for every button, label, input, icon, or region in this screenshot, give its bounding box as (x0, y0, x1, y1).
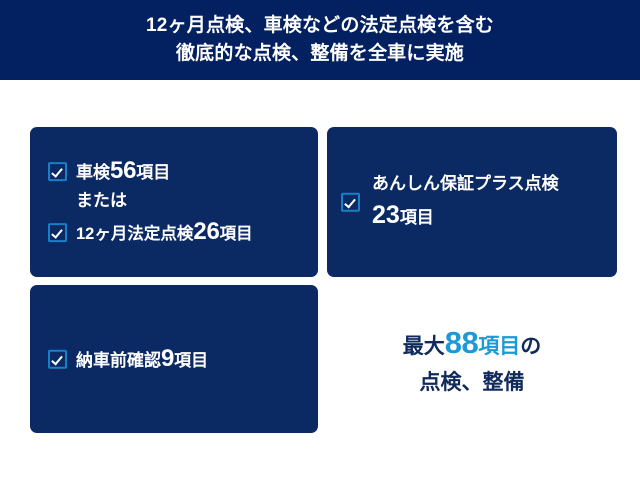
inspection-card-shaken: 車検56項目 または 12ヶ月法定点検26項目 (30, 127, 318, 277)
checkbox-checked-icon (48, 349, 67, 368)
header-line-1: 12ヶ月点検、車検などの法定点検を含む (146, 12, 494, 40)
or-label: または (76, 192, 127, 211)
label-text-before: 12ヶ月法定点検 (76, 225, 193, 243)
summary-unit: 項目 (478, 335, 520, 358)
summary-total-number: 88 (445, 325, 478, 360)
checklist-item-nosha-mae: 納車前確認9項目 (48, 343, 300, 375)
summary-prefix: 最大 (403, 335, 445, 358)
label-text-before: 車検 (76, 163, 110, 182)
card-content: 車検56項目 または 12ヶ月法定点検26項目 (30, 153, 318, 251)
or-separator-row: または (48, 191, 300, 214)
label-text-after: 項目 (136, 163, 170, 182)
checkbox-checked-icon (48, 223, 67, 242)
inspection-card-nosha-mae: 納車前確認9項目 (30, 285, 318, 433)
checkbox-checked-icon (341, 192, 360, 211)
label-text-before: 納車前確認 (76, 351, 161, 370)
label-text-after: 項目 (174, 351, 208, 370)
label-line-2: 23項目 (372, 200, 559, 230)
label-number: 26 (193, 218, 219, 245)
label-text-after: 項目 (400, 208, 434, 227)
label-text-after: 項目 (220, 225, 253, 243)
header-banner: 12ヶ月点検、車検などの法定点検を含む 徹底的な点検、整備を全車に実施 (0, 0, 640, 80)
label-number: 23 (372, 201, 400, 229)
checklist-item-label: あんしん保証プラス点検 23項目 (372, 174, 559, 230)
checklist-item-label: 車検56項目 (76, 155, 170, 187)
checklist-item-label: 納車前確認9項目 (76, 343, 208, 375)
checklist-item-shaken: 車検56項目 (48, 155, 300, 187)
checklist-item-12month: 12ヶ月法定点検26項目 (48, 216, 300, 248)
inspection-card-anshin-hosho: あんしん保証プラス点検 23項目 (327, 127, 617, 277)
summary-line-1: 最大88項目の (403, 320, 541, 367)
label-number: 56 (110, 157, 136, 184)
header-line-2: 徹底的な点検、整備を全車に実施 (176, 40, 464, 68)
label-number: 9 (161, 345, 174, 372)
checklist-item-label: 12ヶ月法定点検26項目 (76, 216, 253, 248)
checkbox-checked-icon (48, 162, 67, 181)
checklist-item-anshin: あんしん保証プラス点検 23項目 (341, 174, 603, 230)
label-line-1: あんしん保証プラス点検 (372, 174, 559, 194)
summary-suffix: の (520, 335, 541, 358)
summary-line-2: 点検、整備 (420, 367, 525, 399)
card-content: 納車前確認9項目 (30, 341, 318, 377)
total-items-summary: 最大88項目の 点検、整備 (327, 285, 617, 433)
card-content: あんしん保証プラス点検 23項目 (327, 174, 617, 230)
